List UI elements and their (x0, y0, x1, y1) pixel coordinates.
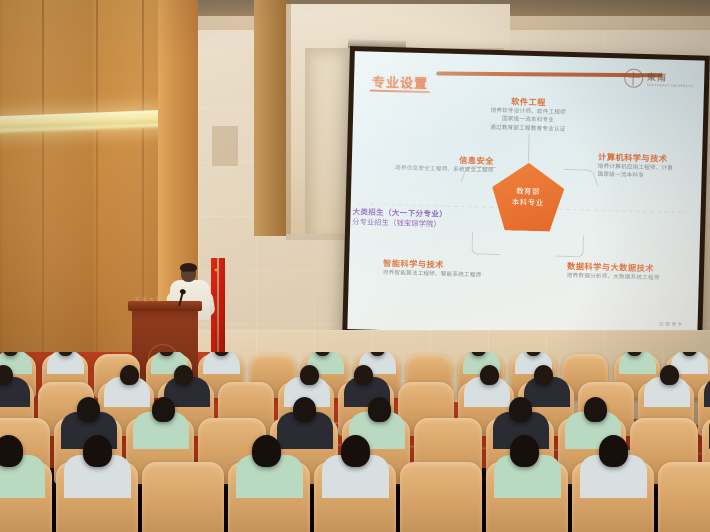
pentagon-line-2: 本科专业 (512, 197, 544, 208)
auditorium-seat (400, 462, 482, 532)
node-data-science: 数据科学与大数据技术 培养数据分析师、大数据系统工程师 (567, 260, 705, 284)
node-line: 国家级一流本科专 (597, 171, 704, 183)
node-software-engineering: 软件工程 培养软件设计师、软件工程师 国家级一流本科专业 通过教育部工程教育专业… (445, 94, 612, 136)
audience-seating (0, 352, 710, 532)
audience-member-head (0, 435, 23, 466)
connector-right-lower (555, 235, 584, 258)
audience-member-head (510, 435, 539, 466)
audience-member-head (293, 397, 316, 422)
lecture-hall-photo: 专业设置 東南 SOUTHEAST UNIVERSITY 教育部 本科专业 软件… (0, 0, 710, 532)
pentagon-line-1: 教育部 (516, 186, 540, 197)
audience-member-head (120, 365, 139, 386)
connector-top (528, 134, 530, 162)
auditorium-seat (142, 462, 224, 532)
audience-member-head (341, 435, 370, 466)
slide-footer: 忘德博学 (659, 321, 684, 328)
speaker-glasses-icon (182, 271, 195, 274)
node-intelligent-science: 智能科学与技术 培养智能算法工程师、智能系统工程师 (383, 257, 533, 281)
podium-top: 东南大学 (128, 301, 202, 311)
audience-member-head (480, 365, 499, 386)
audience-member-head (83, 435, 112, 466)
university-logo: 東南 SOUTHEAST UNIVERSITY (624, 68, 695, 89)
audience-member-head (174, 365, 193, 386)
node-admissions: 大类招生（大一下分专业） 分专业招生（钱宝琮学院） (352, 206, 503, 232)
projection-screen: 专业设置 東南 SOUTHEAST UNIVERSITY 教育部 本科专业 软件… (347, 51, 704, 338)
doorway-frame (254, 0, 288, 236)
audience-member-head (660, 365, 679, 386)
podium-label: 东南大学 (135, 296, 163, 303)
audience-member-head (77, 397, 100, 422)
audience-member-head (599, 435, 628, 466)
projection-screen-frame: 专业设置 東南 SOUTHEAST UNIVERSITY 教育部 本科专业 软件… (342, 46, 710, 344)
connector-left-lower (471, 232, 500, 255)
university-seal-icon (624, 68, 644, 88)
audience-member-head (0, 365, 13, 386)
connector-right-upper (563, 169, 598, 186)
audience-member-head (354, 365, 373, 386)
auditorium-seat (658, 462, 710, 532)
audience-member-head (509, 397, 532, 422)
audience-member-head (584, 397, 607, 422)
node-computer-science: 计算机科学与技术 培养计算机应用工程师、计算 国家级一流本科专 (597, 151, 704, 183)
logo-subtext: SOUTHEAST UNIVERSITY (647, 83, 694, 88)
audience-member-head (252, 435, 281, 466)
wall-panel (212, 126, 238, 166)
audience-member-head (152, 397, 175, 422)
audience-member-head (368, 397, 391, 422)
audience-member-head (300, 365, 319, 386)
node-information-security: 信息安全 培养信息安全工程师、系统安全工程师 (372, 152, 495, 176)
logo-text: 東南 (647, 70, 695, 84)
title-underline (370, 90, 430, 94)
audience-member-head (534, 365, 553, 386)
